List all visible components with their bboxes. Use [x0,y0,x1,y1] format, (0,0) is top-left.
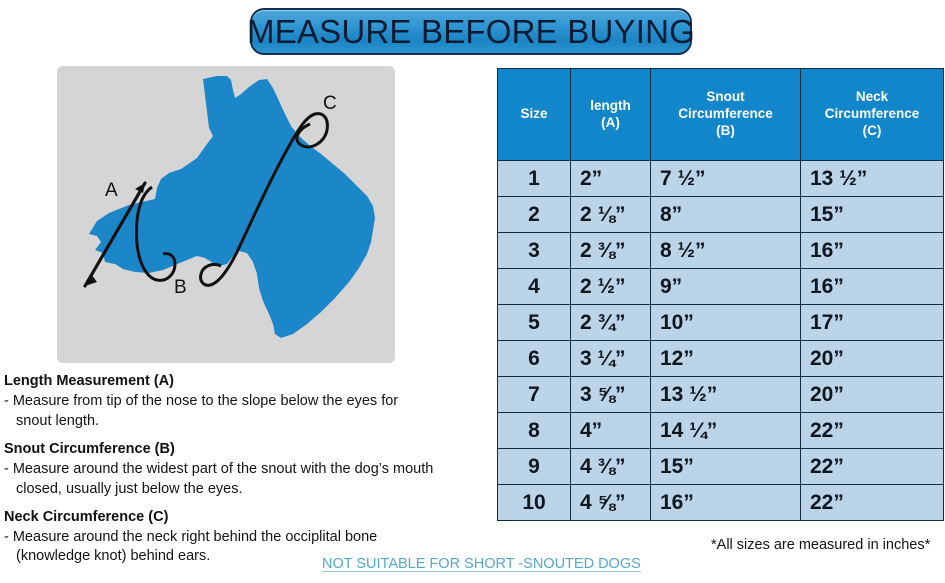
cell-length: 2 ¾” [571,305,651,341]
note-line-1: - Measure from tip of the nose to the sl… [4,393,398,409]
cell-length: 4 ⅝” [571,485,651,521]
cell-size: 3 [498,233,571,269]
note-snout-circumference: Snout Circumference (B) - Measure around… [4,440,490,499]
cell-snout: 16” [651,485,801,521]
cell-snout: 9” [651,269,801,305]
cell-neck: 16” [801,233,944,269]
note-heading: Neck Circumference (C) [4,508,490,527]
marker-b-label: B [174,277,187,298]
cell-length: 2 ⅜” [571,233,651,269]
cell-size: 1 [498,161,571,197]
header-line-1: length [575,98,646,115]
cell-neck: 20” [801,377,944,413]
header-line-1: Size [502,106,566,123]
cell-size: 6 [498,341,571,377]
table-row: 12”7 ½”13 ½” [498,161,944,197]
cell-neck: 22” [801,485,944,521]
header-line-2: Circumference [805,106,939,123]
note-line-1: - Measure around the neck right behind t… [4,529,377,545]
cell-snout: 10” [651,305,801,341]
cell-neck: 15” [801,197,944,233]
cell-snout: 8” [651,197,801,233]
header-line-3: (C) [805,123,939,140]
note-length-measurement: Length Measurement (A) - Measure from ti… [4,372,490,431]
cell-neck: 20” [801,341,944,377]
cell-neck: 13 ½” [801,161,944,197]
cell-neck: 16” [801,269,944,305]
size-chart-body: 12”7 ½”13 ½”22 ⅛”8”15”32 ⅜”8 ½”16”42 ½”9… [498,161,944,521]
inches-note: *All sizes are measured in inches* [711,537,930,553]
col-header-length: length (A) [571,69,651,161]
table-row: 22 ⅛”8”15” [498,197,944,233]
dog-illustration-panel: A B C [57,66,395,363]
cell-neck: 22” [801,413,944,449]
header-line-1: Snout [655,89,796,106]
note-line-2: closed, usually just below the eyes. [4,480,490,499]
table-row: 63 ¼”12”20” [498,341,944,377]
table-row: 42 ½”9”16” [498,269,944,305]
header-line-1: Neck [805,89,939,106]
table-row: 84”14 ¼”22” [498,413,944,449]
cell-length: 2 ⅛” [571,197,651,233]
table-header-row: Size length (A) Snout Circumference (B) … [498,69,944,161]
table-row: 94 ⅜”15”22” [498,449,944,485]
short-snout-warning: NOT SUITABLE FOR SHORT -SNOUTED DOGS [322,556,641,572]
size-chart-header: Size length (A) Snout Circumference (B) … [498,69,944,161]
cell-length: 3 ¼” [571,341,651,377]
note-line-2: snout length. [4,412,490,431]
cell-length: 3 ⅝” [571,377,651,413]
cell-neck: 22” [801,449,944,485]
size-chart-table: Size length (A) Snout Circumference (B) … [497,68,944,521]
cell-size: 4 [498,269,571,305]
header-line-2: (A) [575,115,646,132]
cell-size: 10 [498,485,571,521]
table-row: 52 ¾”10”17” [498,305,944,341]
cell-size: 7 [498,377,571,413]
title-banner: MEASURE BEFORE BUYING [250,8,692,55]
col-header-size: Size [498,69,571,161]
note-body: - Measure around the widest part of the … [4,460,490,499]
cell-snout: 14 ¼” [651,413,801,449]
cell-length: 2” [571,161,651,197]
header-line-3: (B) [655,123,796,140]
cell-snout: 13 ½” [651,377,801,413]
cell-length: 2 ½” [571,269,651,305]
col-header-snout-circumference: Snout Circumference (B) [651,69,801,161]
note-heading: Snout Circumference (B) [4,440,490,459]
cell-length: 4” [571,413,651,449]
cell-neck: 17” [801,305,944,341]
dog-head-diagram: A B C [57,66,395,363]
marker-a-label: A [105,180,118,201]
table-row: 104 ⅝”16”22” [498,485,944,521]
note-heading: Length Measurement (A) [4,372,490,391]
marker-c-label: C [323,93,337,114]
col-header-neck-circumference: Neck Circumference (C) [801,69,944,161]
cell-size: 2 [498,197,571,233]
cell-size: 5 [498,305,571,341]
note-body: - Measure from tip of the nose to the sl… [4,392,490,431]
header-line-2: Circumference [655,106,796,123]
cell-snout: 7 ½” [651,161,801,197]
page-title: MEASURE BEFORE BUYING [247,15,695,48]
cell-length: 4 ⅜” [571,449,651,485]
cell-size: 9 [498,449,571,485]
table-row: 32 ⅜”8 ½”16” [498,233,944,269]
cell-snout: 12” [651,341,801,377]
note-line-1: - Measure around the widest part of the … [4,461,433,477]
cell-snout: 15” [651,449,801,485]
measurement-notes: Length Measurement (A) - Measure from ti… [4,372,490,567]
cell-size: 8 [498,413,571,449]
cell-snout: 8 ½” [651,233,801,269]
table-row: 73 ⅝”13 ½”20” [498,377,944,413]
